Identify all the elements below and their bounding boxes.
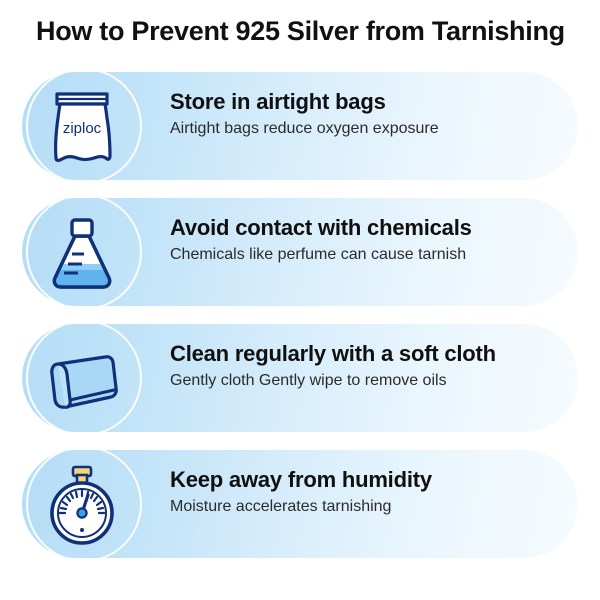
- tip-card-clean-cloth[interactable]: Clean regularly with a soft cloth Gently…: [22, 324, 578, 432]
- tip-card-text: Store in airtight bags Airtight bags red…: [170, 88, 560, 140]
- tip-heading: Keep away from humidity: [170, 466, 560, 494]
- tip-heading: Avoid contact with chemicals: [170, 214, 560, 242]
- ziploc-bag-icon: ziploc: [36, 81, 128, 173]
- folded-cloth-icon: [36, 333, 128, 425]
- tip-subtext: Chemicals like perfume can cause tarnish: [170, 244, 560, 266]
- tip-heading: Store in airtight bags: [170, 88, 560, 116]
- stopwatch-icon: [36, 459, 128, 551]
- ziploc-label: ziploc: [63, 120, 102, 137]
- tip-heading: Clean regularly with a soft cloth: [170, 340, 560, 368]
- tip-card-text: Keep away from humidity Moisture acceler…: [170, 466, 560, 518]
- tip-card-text: Clean regularly with a soft cloth Gently…: [170, 340, 560, 392]
- tip-card-keep-dry[interactable]: Keep away from humidity Moisture acceler…: [22, 450, 578, 558]
- tip-subtext: Airtight bags reduce oxygen exposure: [170, 118, 560, 140]
- erlenmeyer-flask-icon: [36, 207, 128, 299]
- tip-card-text: Avoid contact with chemicals Chemicals l…: [170, 214, 560, 266]
- tip-subtext: Moisture accelerates tarnishing: [170, 496, 560, 518]
- tip-card-store-airtight[interactable]: ziploc Store in airtight bags Airtight b…: [22, 72, 578, 180]
- tip-subtext: Gently cloth Gently wipe to remove oils: [170, 370, 560, 392]
- tips-list: ziploc Store in airtight bags Airtight b…: [22, 72, 578, 576]
- tip-card-avoid-chemicals[interactable]: Avoid contact with chemicals Chemicals l…: [22, 198, 578, 306]
- infographic-page: How to Prevent 925 Silver from Tarnishin…: [0, 0, 600, 600]
- page-title: How to Prevent 925 Silver from Tarnishin…: [36, 14, 576, 48]
